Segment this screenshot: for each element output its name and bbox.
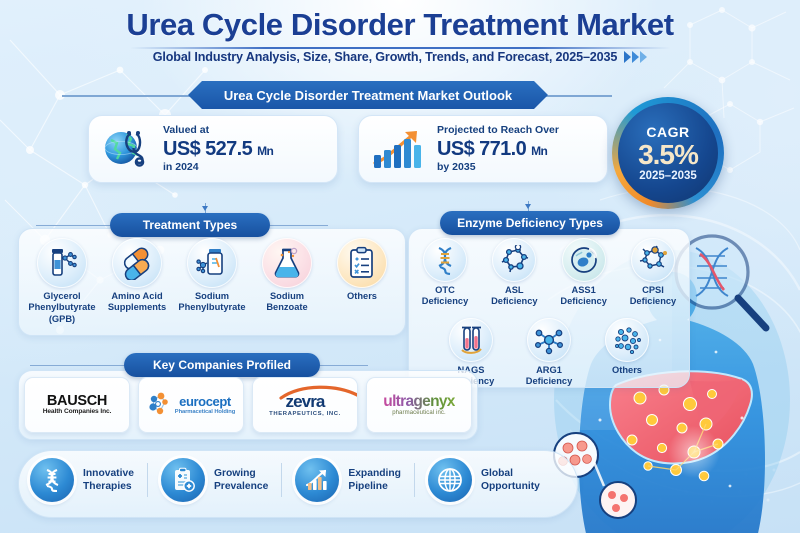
stat-projected-amount: US$ 771.0 [437,138,526,160]
connector-arrow-enzyme [525,204,531,209]
company-tagline: Pharmacetical Holding [175,409,235,415]
enzyme-item-ass1[interactable]: ASS1 Deficiency [553,238,615,308]
company-logo-bausch[interactable]: BAUSCH Health Companies Inc. [24,377,130,433]
molecule-node-icon [527,318,571,362]
clipboard-plus-icon [161,458,205,502]
cagr-years: 2025–2035 [639,170,697,182]
feature-label: Growing Prevalence [214,467,268,493]
stat-projected-label: Projected to Reach Over [437,124,559,137]
cagr-badge: CAGR 3.5% 2025–2035 [612,97,724,209]
stat-valued-value: US$ 527.5 Mn [163,138,273,161]
title-divider [130,47,670,49]
page-title: Urea Cycle Disorder Treatment Market [0,8,800,43]
enzyme-item-label: CPSI Deficiency [630,285,677,308]
company-name: eurocept [179,395,231,409]
chart-growth-icon [295,458,339,502]
company-name: ultragenyx [383,394,454,410]
stat-card-valued: Valued at US$ 527.5 Mn in 2024 [88,115,338,183]
features-list: Innovative Therapies Growing Prevalence [30,458,570,502]
feature-divider [414,463,415,497]
chevron-right-icon [624,51,647,63]
ribbon-rule-right [544,95,612,97]
company-name: BAUSCH [47,394,107,409]
dna-icon [30,458,74,502]
treatment-item-amino-acid[interactable]: Amino Acid Supplements [101,238,173,325]
capsules-icon [112,238,162,288]
pill-rule-companies-right [316,365,368,366]
stat-projected-year: by 2035 [437,161,559,174]
connector-arrow-treatment [202,206,208,211]
enzyme-item-label: OTC Deficiency [422,285,469,308]
medicine-bottle-icon [187,238,237,288]
growth-bar-chart-arrow-icon [371,125,427,173]
treatment-item-label: Amino Acid Supplements [108,291,166,314]
globe-stethoscope-icon [101,124,153,174]
ribbon-rule-left [62,95,192,97]
page-subtitle: Global Industry Analysis, Size, Share, G… [153,50,617,64]
treatment-item-gpb[interactable]: Glycerol Phenylbutyrate (GPB) [26,238,98,325]
company-logo-eurocept[interactable]: eurocept Pharmacetical Holding [138,377,244,433]
vial-molecule-icon [37,238,87,288]
stat-projected-value: US$ 771.0 Mn [437,138,559,161]
treatment-item-others[interactable]: Others [326,238,398,325]
feature-innovative-therapies[interactable]: Innovative Therapies [30,458,134,502]
cell-icon [562,238,606,282]
feature-divider [147,463,148,497]
globe-grid-icon [428,458,472,502]
feature-divider [281,463,282,497]
stat-projected-unit: Mn [531,144,547,158]
enzyme-deficiency-list-row1: OTC Deficiency ASL Deficiency [414,238,684,308]
flask-icon [262,238,312,288]
cagr-label: CAGR [646,124,689,140]
company-logo-zevra[interactable]: zevra THERAPEUTICS, INC. [252,377,358,433]
molecule-hexagon-icon [492,238,536,282]
feature-growing-prevalence[interactable]: Growing Prevalence [161,458,268,502]
feature-label: Global Opportunity [481,467,540,493]
enzyme-item-label: ASL Deficiency [491,285,538,308]
test-tubes-icon [449,318,493,362]
treatment-item-sodium-benzoate[interactable]: Sodium Benzoate [251,238,323,325]
title-block: Urea Cycle Disorder Treatment Market [0,8,800,43]
infographic-canvas: Urea Cycle Disorder Treatment Market Glo… [0,0,800,533]
treatment-types-list: Glycerol Phenylbutyrate (GPB) Amino Acid… [26,238,398,325]
pill-rule-treatment-left [36,225,114,226]
feature-label: Innovative Therapies [83,467,134,493]
key-companies-list: BAUSCH Health Companies Inc. eurocept Ph… [24,377,472,433]
pill-rule-treatment-right [266,225,328,226]
enzyme-item-otc[interactable]: OTC Deficiency [414,238,476,308]
enzyme-deficiency-heading: Enzyme Deficiency Types [440,211,620,235]
company-tagline: Health Companies Inc. [43,409,112,416]
enzyme-item-label: ARG1 Deficiency [526,365,573,388]
dna-helix-icon [423,238,467,282]
feature-expanding-pipeline[interactable]: Expanding Pipeline [295,458,401,502]
cagr-value: 3.5% [638,140,698,169]
subtitle-row: Global Industry Analysis, Size, Share, G… [0,50,800,64]
enzyme-item-label: ASS1 Deficiency [560,285,607,308]
stat-valued-amount: US$ 527.5 [163,138,252,160]
enzyme-item-others[interactable]: Others [596,318,658,388]
cell-cluster-icon [605,318,649,362]
company-tagline: THERAPEUTICS, INC. [269,411,341,417]
market-outlook-ribbon: Urea Cycle Disorder Treatment Market Out… [188,81,548,109]
feature-label: Expanding Pipeline [348,467,401,493]
treatment-item-label: Others [347,291,377,302]
company-logo-ultragenyx[interactable]: ultragenyx pharmaceutical inc. [366,377,472,433]
stat-valued-label: Valued at [163,124,273,137]
enzyme-item-asl[interactable]: ASL Deficiency [483,238,545,308]
pill-rule-companies-left [30,365,128,366]
treatment-item-label: Sodium Phenylbutyrate [178,291,245,314]
enzyme-item-label: Others [612,365,642,376]
treatment-types-heading: Treatment Types [110,213,270,237]
feature-global-opportunity[interactable]: Global Opportunity [428,458,540,502]
enzyme-item-cpsi[interactable]: CPSI Deficiency [622,238,684,308]
zevra-swoosh-icon [275,384,358,400]
treatment-item-sodium-phenylbutyrate[interactable]: Sodium Phenylbutyrate [176,238,248,325]
key-companies-heading: Key Companies Profiled [124,353,320,377]
stat-card-projected: Projected to Reach Over US$ 771.0 Mn by … [358,115,608,183]
enzyme-item-arg1[interactable]: ARG1 Deficiency [518,318,580,388]
eurocept-molecule-icon [147,392,171,418]
treatment-item-label: Sodium Benzoate [266,291,307,314]
molecule-cluster-icon [631,238,675,282]
stat-valued-unit: Mn [257,144,273,158]
company-tagline: pharmaceutical inc. [392,410,446,416]
stat-valued-year: in 2024 [163,161,273,174]
treatment-item-label: Glycerol Phenylbutyrate (GPB) [28,291,95,325]
clipboard-checklist-icon [337,238,387,288]
